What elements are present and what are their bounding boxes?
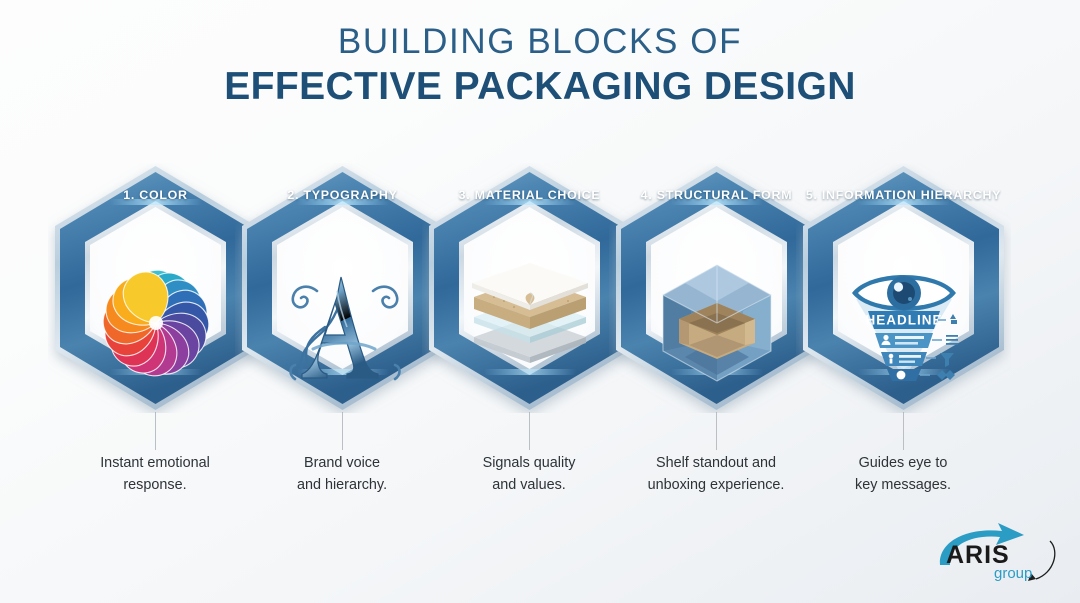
caption-hierarchy-line1: Guides eye to xyxy=(793,452,1013,474)
connector-stem-3 xyxy=(529,412,530,450)
page-title: BUILDING BLOCKS OF EFFECTIVE PACKAGING D… xyxy=(0,22,1080,111)
connector-stem-4 xyxy=(716,412,717,450)
step-node-material[interactable]: 3. MATERIAL CHOICE xyxy=(422,163,637,413)
caption-hierarchy: Guides eye to key messages. xyxy=(793,452,1013,497)
step-node-color[interactable]: 1. COLOR xyxy=(48,163,263,413)
connector-stem-1 xyxy=(155,412,156,450)
title-line-1: BUILDING BLOCKS OF xyxy=(0,22,1080,61)
connector-stem-2 xyxy=(342,412,343,450)
step-node-typography[interactable]: 2. TYPOGRAPHY xyxy=(235,163,450,413)
title-line-2: EFFECTIVE PACKAGING DESIGN xyxy=(0,64,1080,111)
aris-group-logo[interactable]: ARIS group xyxy=(932,521,1062,591)
infographic-canvas: BUILDING BLOCKS OF EFFECTIVE PACKAGING D… xyxy=(0,0,1080,603)
connector-stem-5 xyxy=(903,412,904,450)
step-node-hierarchy[interactable]: 5. INFORMATION HIERARCHY HEADLINE xyxy=(796,163,1011,413)
step-node-structural[interactable]: 4. STRUCTURAL FORM xyxy=(609,163,824,413)
logo-sub-text: group xyxy=(994,565,1032,582)
caption-hierarchy-line2: key messages. xyxy=(793,474,1013,496)
